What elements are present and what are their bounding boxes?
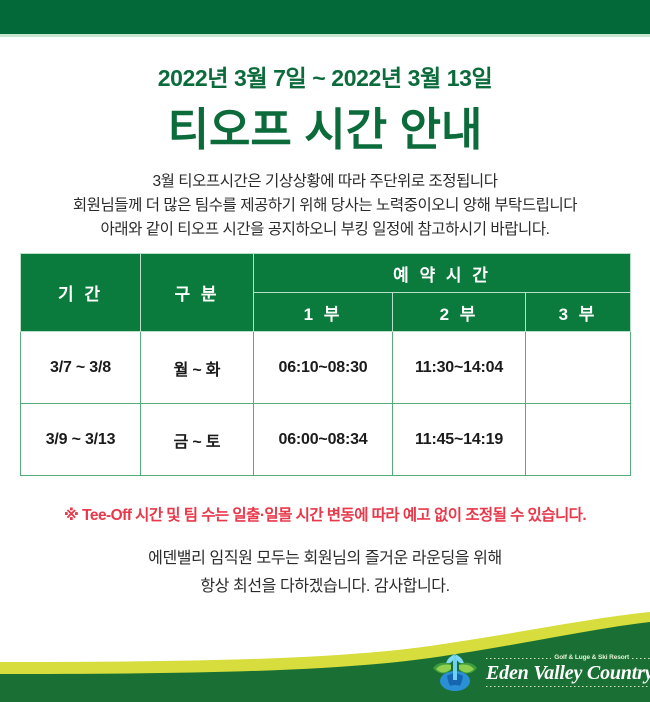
cell-period: 3/7 ~ 3/8	[21, 332, 141, 404]
table-header-row-top: 기 간 구 분 예 약 시 간	[21, 254, 631, 293]
cell-part3	[526, 332, 631, 404]
column-header-part1: 1 부	[254, 293, 393, 332]
footer-brand-name: Eden Valley Country Club	[486, 663, 650, 683]
table-head: 기 간 구 분 예 약 시 간 1 부 2 부 3 부	[21, 254, 631, 332]
column-header-period: 기 간	[21, 254, 141, 332]
cell-part1: 06:10~08:30	[254, 332, 393, 404]
closing-line-1: 에덴밸리 임직원 모두는 회원님의 즐거운 라운딩을 위해	[0, 545, 650, 573]
top-band-rule	[0, 34, 650, 37]
table-row: 3/7 ~ 3/8 월 ~ 화 06:10~08:30 11:30~14:04	[21, 332, 631, 404]
column-header-part2: 2 부	[393, 293, 526, 332]
footer-tagline: Golf & Luge & Ski Resort	[554, 655, 629, 662]
cell-part1: 06:00~08:34	[254, 404, 393, 476]
tee-off-schedule-table: 기 간 구 분 예 약 시 간 1 부 2 부 3 부 3/7 ~ 3/8 월 …	[20, 253, 631, 476]
cell-part3	[526, 404, 631, 476]
closing-line-2: 항상 최선을 다하겠습니다. 감사합니다.	[0, 573, 650, 601]
table-row: 3/9 ~ 3/13 금 ~ 토 06:00~08:34 11:45~14:19	[21, 404, 631, 476]
intro-line-2: 회원님들께 더 많은 팀수를 제공하기 위해 당사는 노력중이오니 양해 부탁드…	[0, 194, 650, 218]
page-title: 티오프 시간 안내	[0, 93, 650, 158]
dotted-line-right	[632, 658, 650, 659]
cell-division: 월 ~ 화	[141, 332, 254, 404]
cell-division: 금 ~ 토	[141, 404, 254, 476]
cell-period: 3/9 ~ 3/13	[21, 404, 141, 476]
intro-paragraph: 3월 티오프시간은 기상상황에 따라 주단위로 조정됩니다 회원님들께 더 많은…	[0, 170, 650, 242]
intro-line-1: 3월 티오프시간은 기상상황에 따라 주단위로 조정됩니다	[0, 170, 650, 194]
intro-line-3: 아래와 같이 티오프 시간을 공지하오니 부킹 일정에 참고하시기 바랍니다.	[0, 218, 650, 242]
dotted-line-bottom	[486, 686, 650, 687]
cell-part2: 11:45~14:19	[393, 404, 526, 476]
top-green-band	[0, 0, 650, 34]
dotted-line-left	[486, 658, 551, 659]
eden-valley-emblem-icon	[430, 648, 480, 694]
footer-tagline-row: Golf & Luge & Ski Resort	[486, 655, 650, 662]
closing-message: 에덴밸리 임직원 모두는 회원님의 즐거운 라운딩을 위해 항상 최선을 다하겠…	[0, 545, 650, 601]
column-header-division: 구 분	[141, 254, 254, 332]
footer-logo-text: Golf & Luge & Ski Resort Eden Valley Cou…	[486, 655, 650, 688]
table-body: 3/7 ~ 3/8 월 ~ 화 06:10~08:30 11:30~14:04 …	[21, 332, 631, 476]
column-header-part3: 3 부	[526, 293, 631, 332]
date-range-heading: 2022년 3월 7일 ~ 2022년 3월 13일	[0, 59, 650, 93]
disclaimer-note: ※ Tee-Off 시간 및 팀 수는 일출·일몰 시간 변동에 따라 예고 없…	[0, 503, 650, 525]
poster-root: 2022년 3월 7일 ~ 2022년 3월 13일 티오프 시간 안내 3월 …	[0, 0, 650, 702]
column-header-reservation-time: 예 약 시 간	[254, 254, 631, 293]
cell-part2: 11:30~14:04	[393, 332, 526, 404]
footer-logo: Golf & Luge & Ski Resort Eden Valley Cou…	[430, 646, 645, 696]
